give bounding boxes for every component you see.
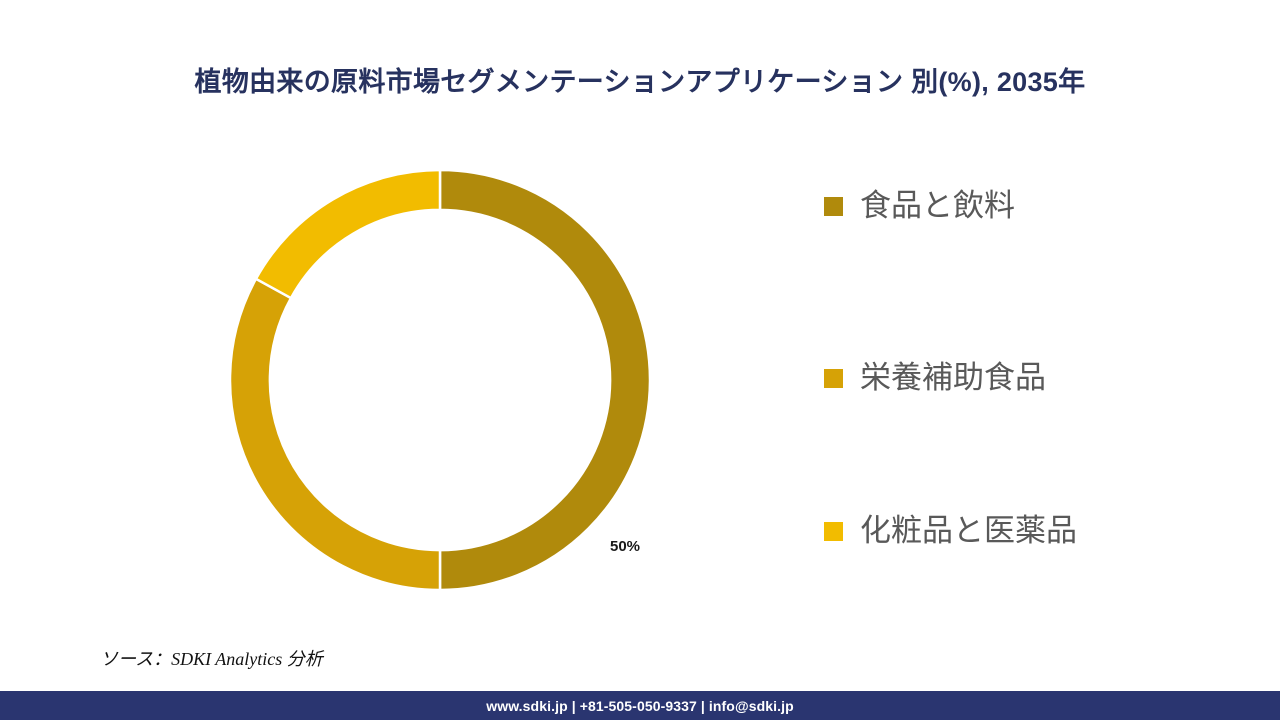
footer-bar: www.sdki.jp | +81-505-050-9337 | info@sd… [0, 691, 1280, 720]
source-note: ソース：SDKI Analytics 分析 [100, 645, 323, 671]
page-title: 植物由来の原料市場セグメンテーションアプリケーション 別(%), 2035年 [0, 60, 1280, 99]
donut-slice-2[interactable] [256, 170, 440, 298]
legend-item-dietary-supplements[interactable]: 栄養補助食品 [824, 356, 1046, 400]
donut-chart: 50% [228, 168, 652, 592]
legend-swatch-icon-1 [824, 369, 843, 388]
legend-label-2: 化粧品と医薬品 [860, 514, 1077, 548]
legend-label-1: 栄養補助食品 [860, 361, 1046, 395]
data-label-food-and-beverages: 50% [610, 538, 640, 555]
donut-slice-group [230, 170, 650, 590]
slide-canvas: 植物由来の原料市場セグメンテーションアプリケーション 別(%), 2035年 5… [0, 0, 1280, 720]
legend-item-cosmetics-and-pharmaceuticals[interactable]: 化粧品と医薬品 [824, 509, 1077, 553]
donut-slice-0[interactable] [440, 170, 650, 590]
donut-chart-svg [228, 168, 652, 592]
chart-legend: 食品と飲料 栄養補助食品 化粧品と医薬品 [824, 172, 1224, 592]
legend-label-0: 食品と飲料 [860, 189, 1015, 223]
footer-contact-text: www.sdki.jp | +81-505-050-9337 | info@sd… [486, 698, 794, 714]
legend-item-food-and-beverages[interactable]: 食品と飲料 [824, 184, 1015, 228]
legend-swatch-icon-0 [824, 197, 843, 216]
legend-swatch-icon-2 [824, 522, 843, 541]
donut-slice-1[interactable] [230, 279, 440, 590]
